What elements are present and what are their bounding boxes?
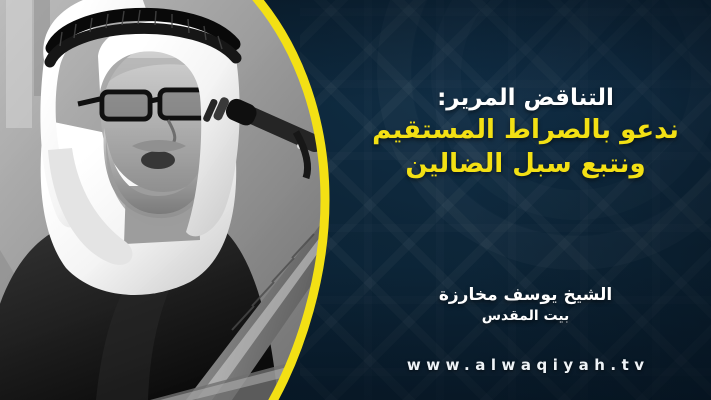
website-url[interactable]: www.alwaqiyah.tv <box>340 356 711 374</box>
speaker-name: الشيخ يوسف مخارزة <box>348 284 703 307</box>
headline-line-1: التناقض المرير: <box>348 84 703 114</box>
credits-block: الشيخ يوسف مخارزة بيت المقدس <box>348 284 703 327</box>
speaker-location: بيت المقدس <box>348 307 703 327</box>
headline-line-2: ندعو بالصراط المستقيم <box>348 114 703 148</box>
headline-line-3: ونتبع سبل الضالين <box>348 148 703 182</box>
speaker-photo <box>0 0 330 400</box>
speaker-photo-image <box>0 0 330 400</box>
title-card: التناقض المرير: ندعو بالصراط المستقيم ون… <box>0 0 711 400</box>
content-panel: التناقض المرير: ندعو بالصراط المستقيم ون… <box>340 0 711 400</box>
headline-block: التناقض المرير: ندعو بالصراط المستقيم ون… <box>348 84 703 181</box>
